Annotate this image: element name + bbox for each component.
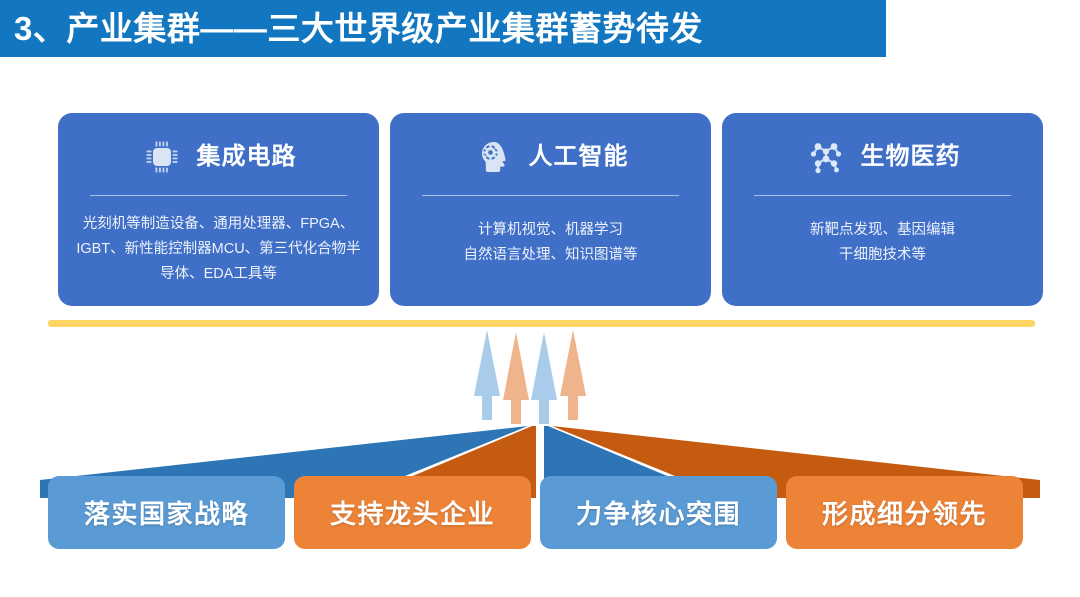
gold-rule <box>48 320 1035 327</box>
action-bar-leading-enterprises[interactable]: 支持龙头企业 <box>294 476 531 549</box>
page-title: 3、产业集群——三大世界级产业集群蓄势待发 <box>0 12 703 45</box>
title-banner: 3、产业集群——三大世界级产业集群蓄势待发 <box>0 0 886 57</box>
card-header: 生物医药 <box>736 129 1029 185</box>
pillar-card-biomedicine[interactable]: 生物医药 新靶点发现、基因编辑 干细胞技术等 <box>722 113 1043 306</box>
ai-head-gear-icon <box>473 136 515 178</box>
pillar-description: 新靶点发现、基因编辑 干细胞技术等 <box>806 218 959 268</box>
pillar-card-artificial-intelligence[interactable]: 人工智能 计算机视觉、机器学习 自然语言处理、知识图谱等 <box>390 113 711 306</box>
pillar-card-integrated-circuits[interactable]: 集成电路 光刻机等制造设备、通用处理器、FPGA、IGBT、新性能控制器MCU、… <box>58 113 379 306</box>
molecule-icon <box>805 136 847 178</box>
action-bars-row: 落实国家战略 支持龙头企业 力争核心突围 形成细分领先 <box>48 476 1023 549</box>
action-bar-core-breakthrough[interactable]: 力争核心突围 <box>540 476 777 549</box>
arrow-up-1 <box>474 330 500 420</box>
action-bar-segment-leadership[interactable]: 形成细分领先 <box>786 476 1023 549</box>
pillar-cards-row: 集成电路 光刻机等制造设备、通用处理器、FPGA、IGBT、新性能控制器MCU、… <box>58 113 1043 306</box>
card-divider <box>90 195 348 196</box>
action-bar-national-strategy[interactable]: 落实国家战略 <box>48 476 285 549</box>
pillar-title: 集成电路 <box>197 145 297 169</box>
card-header: 人工智能 <box>404 129 697 185</box>
pillar-description: 计算机视觉、机器学习 自然语言处理、知识图谱等 <box>460 218 642 268</box>
slide-canvas: 3、产业集群——三大世界级产业集群蓄势待发 <box>0 0 1080 597</box>
pillar-title: 生物医药 <box>861 145 961 169</box>
chip-icon <box>141 136 183 178</box>
pillar-description: 光刻机等制造设备、通用处理器、FPGA、IGBT、新性能控制器MCU、第三代化合… <box>72 212 365 287</box>
card-header: 集成电路 <box>72 129 365 185</box>
arrow-up-4 <box>560 330 586 420</box>
card-divider <box>754 195 1012 196</box>
pillar-title: 人工智能 <box>529 145 629 169</box>
card-divider <box>422 195 680 196</box>
